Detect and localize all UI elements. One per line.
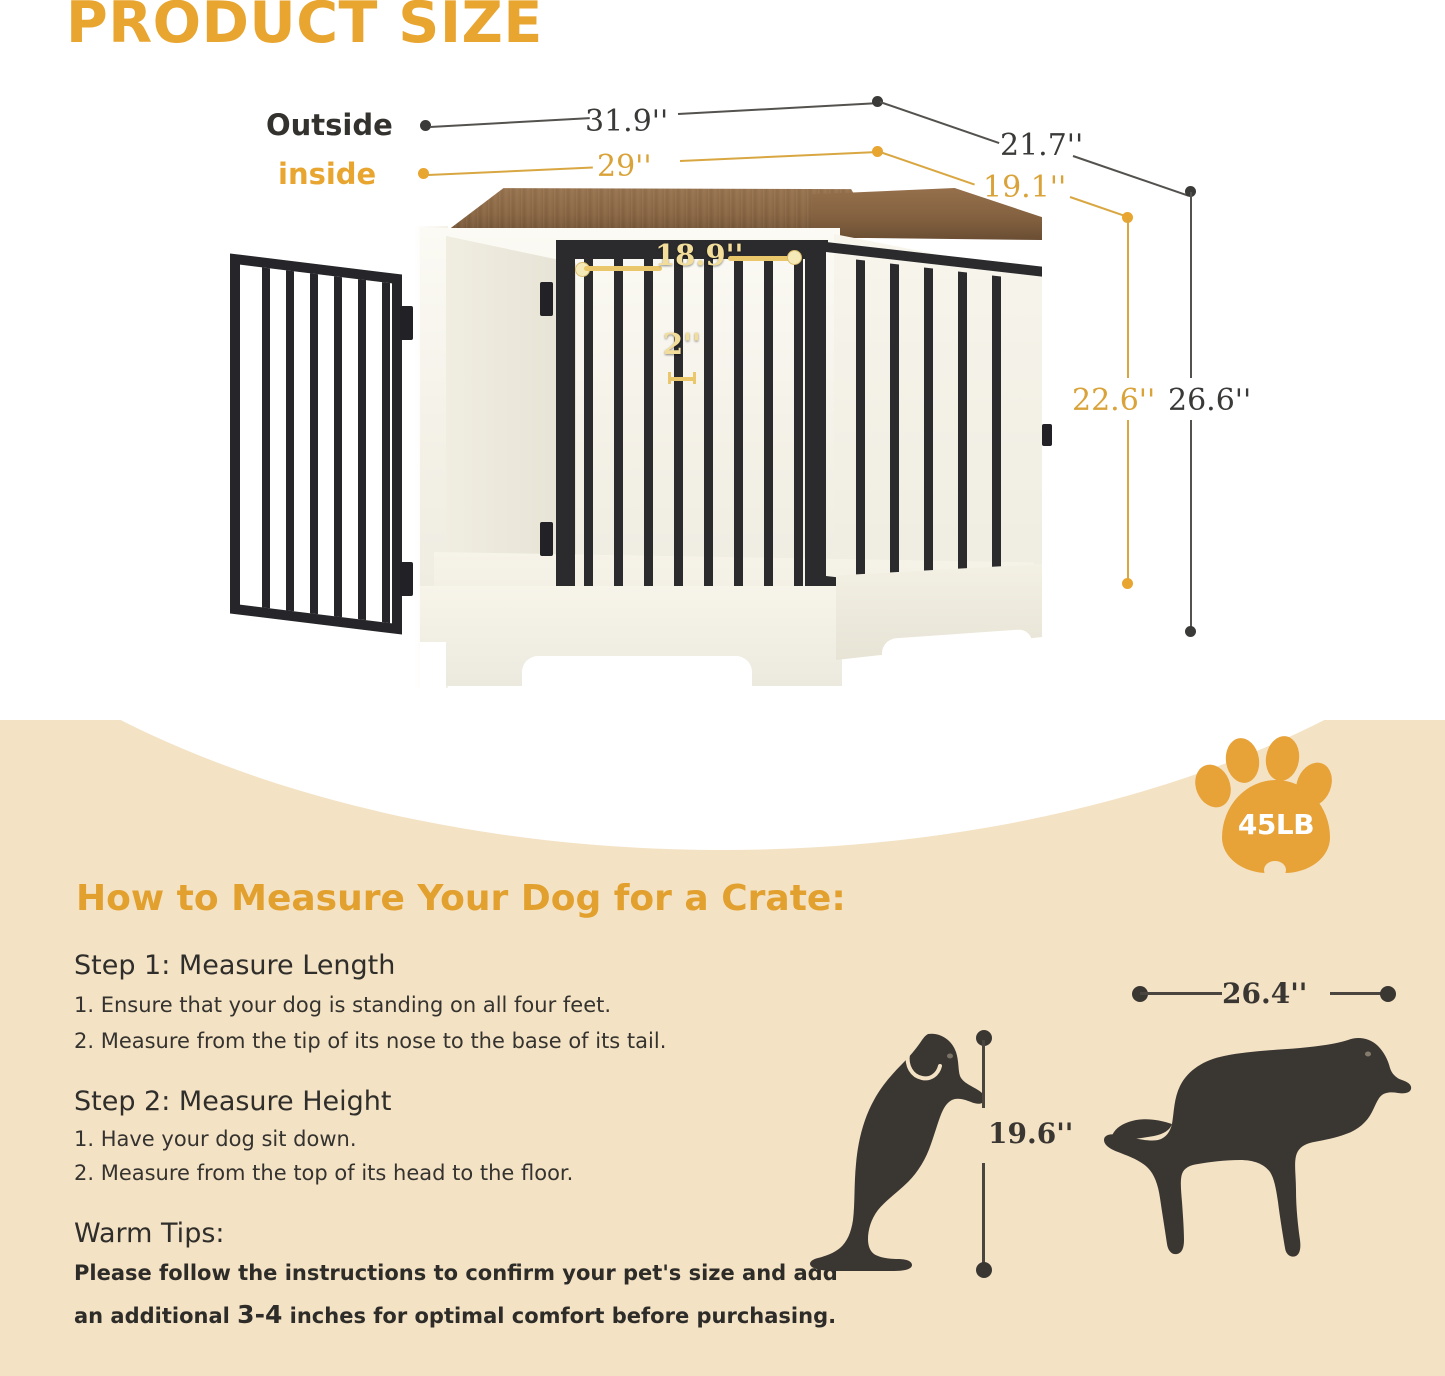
outside-height-line-top: [1190, 192, 1192, 378]
paw-print-icon: 45LB: [1196, 728, 1356, 873]
door-hinge-top: [540, 282, 553, 316]
sitting-height-line-top: [982, 1040, 985, 1108]
bar-spacing-value: 2'': [663, 327, 701, 361]
sitting-height-value: 19.6'': [988, 1117, 1073, 1150]
outside-height-end-dot: [1185, 626, 1196, 637]
inside-width-leader-right: [680, 151, 878, 162]
standing-length-value: 26.4'': [1222, 977, 1307, 1010]
sitting-height-bottom-dot: [976, 1262, 992, 1278]
side-latch: [1042, 424, 1052, 446]
door-bar: [382, 282, 390, 623]
outside-width-leader-right: [678, 102, 878, 115]
bar-spacing-arrow: [669, 377, 695, 381]
door-bar: [310, 273, 318, 614]
inside-width-leader-left: [428, 167, 593, 176]
base-scallop-cutout: [522, 656, 752, 688]
outside-height-line-bottom: [1190, 420, 1192, 628]
side-panel-bar: [924, 267, 933, 582]
tips-emphasis: 3-4: [237, 1300, 282, 1329]
door-edge-hinge-top: [400, 306, 413, 340]
door-width-value: 18.9'': [655, 238, 743, 272]
outside-height-value: 26.6'': [1168, 383, 1251, 418]
door-hinge-bottom: [540, 522, 553, 556]
door-bar: [358, 279, 366, 620]
door-bar: [334, 276, 342, 617]
door-bar: [262, 267, 270, 608]
bar-spacing-tick-right: [693, 372, 696, 384]
gate-bar: [764, 258, 773, 614]
step1-title: Step 1: Measure Length: [74, 950, 395, 981]
step1-line2: 2. Measure from the tip of its nose to t…: [74, 1029, 666, 1053]
tips-prefix: an additional: [74, 1304, 237, 1328]
inside-height-line-bottom: [1127, 420, 1129, 580]
weight-capacity-label: 45LB: [1222, 808, 1330, 841]
bar-spacing-tick-left: [668, 372, 671, 384]
step1-line1: 1. Ensure that your dog is standing on a…: [74, 993, 611, 1017]
standing-dog-silhouette: [1100, 1012, 1420, 1282]
inside-height-end-dot: [1122, 578, 1133, 589]
gate-bar: [734, 258, 743, 614]
side-panel-bar: [958, 271, 967, 584]
page-title: PRODUCT SIZE: [66, 0, 543, 56]
gate-bar: [674, 258, 683, 614]
step2-line2: 2. Measure from the top of its head to t…: [74, 1161, 573, 1185]
sitting-dog-silhouette: [800, 1020, 1000, 1280]
door-width-end-dot: [787, 250, 802, 265]
dog-crate-furniture-image: [222, 186, 1052, 706]
outside-width-leader-left: [430, 117, 590, 128]
inside-height-value: 22.6'': [1072, 383, 1155, 418]
outside-depth-value: 21.7'': [1000, 128, 1083, 163]
base-foot-cutout: [420, 642, 446, 688]
outside-depth-leader-right: [1073, 155, 1189, 197]
outside-label: Outside: [266, 108, 393, 142]
gate-bar: [614, 258, 623, 614]
gate-bar: [794, 258, 803, 614]
standing-length-line-right: [1330, 992, 1382, 995]
side-panel-bar: [890, 263, 899, 580]
inside-depth-leader-right: [1070, 196, 1129, 218]
crate-wood-top-right: [812, 188, 1042, 240]
sitting-height-line-bottom: [982, 1163, 985, 1263]
door-edge-hinge-bottom: [400, 562, 413, 596]
tips-suffix: inches for optimal comfort before purcha…: [282, 1304, 836, 1328]
inside-depth-leader-left: [880, 151, 975, 185]
warm-tips-title: Warm Tips:: [74, 1218, 225, 1249]
door-width-bar-right: [728, 256, 790, 261]
paw-toe: [1223, 736, 1263, 786]
step2-title: Step 2: Measure Height: [74, 1086, 392, 1117]
inside-width-value: 29'': [597, 149, 652, 184]
gate-right-post: [810, 240, 826, 632]
warm-tips-line1: Please follow the instructions to confir…: [74, 1261, 838, 1285]
gate-bar: [644, 258, 653, 614]
howto-heading: How to Measure Your Dog for a Crate:: [76, 878, 846, 919]
side-panel-bar: [992, 275, 1001, 586]
door-bar: [286, 270, 294, 611]
crate-front-gate-frame: [564, 248, 816, 624]
outside-width-value: 31.9'': [585, 104, 668, 139]
product-size-infographic: PRODUCT SIZE Outside inside 31.9'' 29'' …: [0, 0, 1445, 1376]
gate-bar: [704, 258, 713, 614]
step2-line1: 1. Have your dog sit down.: [74, 1127, 357, 1151]
outside-depth-leader-left: [880, 101, 1000, 144]
paw-toe: [1263, 734, 1303, 784]
door-width-bar-left: [584, 266, 662, 271]
standing-length-right-dot: [1380, 986, 1396, 1002]
crate-open-door[interactable]: [230, 253, 402, 634]
standing-length-line-left: [1140, 992, 1222, 995]
gate-center-post: [556, 244, 572, 632]
side-panel-bar: [856, 259, 865, 578]
inside-height-line-top: [1127, 218, 1129, 378]
gate-bar: [584, 258, 593, 614]
warm-tips-line2: an additional 3-4 inches for optimal com…: [74, 1300, 836, 1329]
